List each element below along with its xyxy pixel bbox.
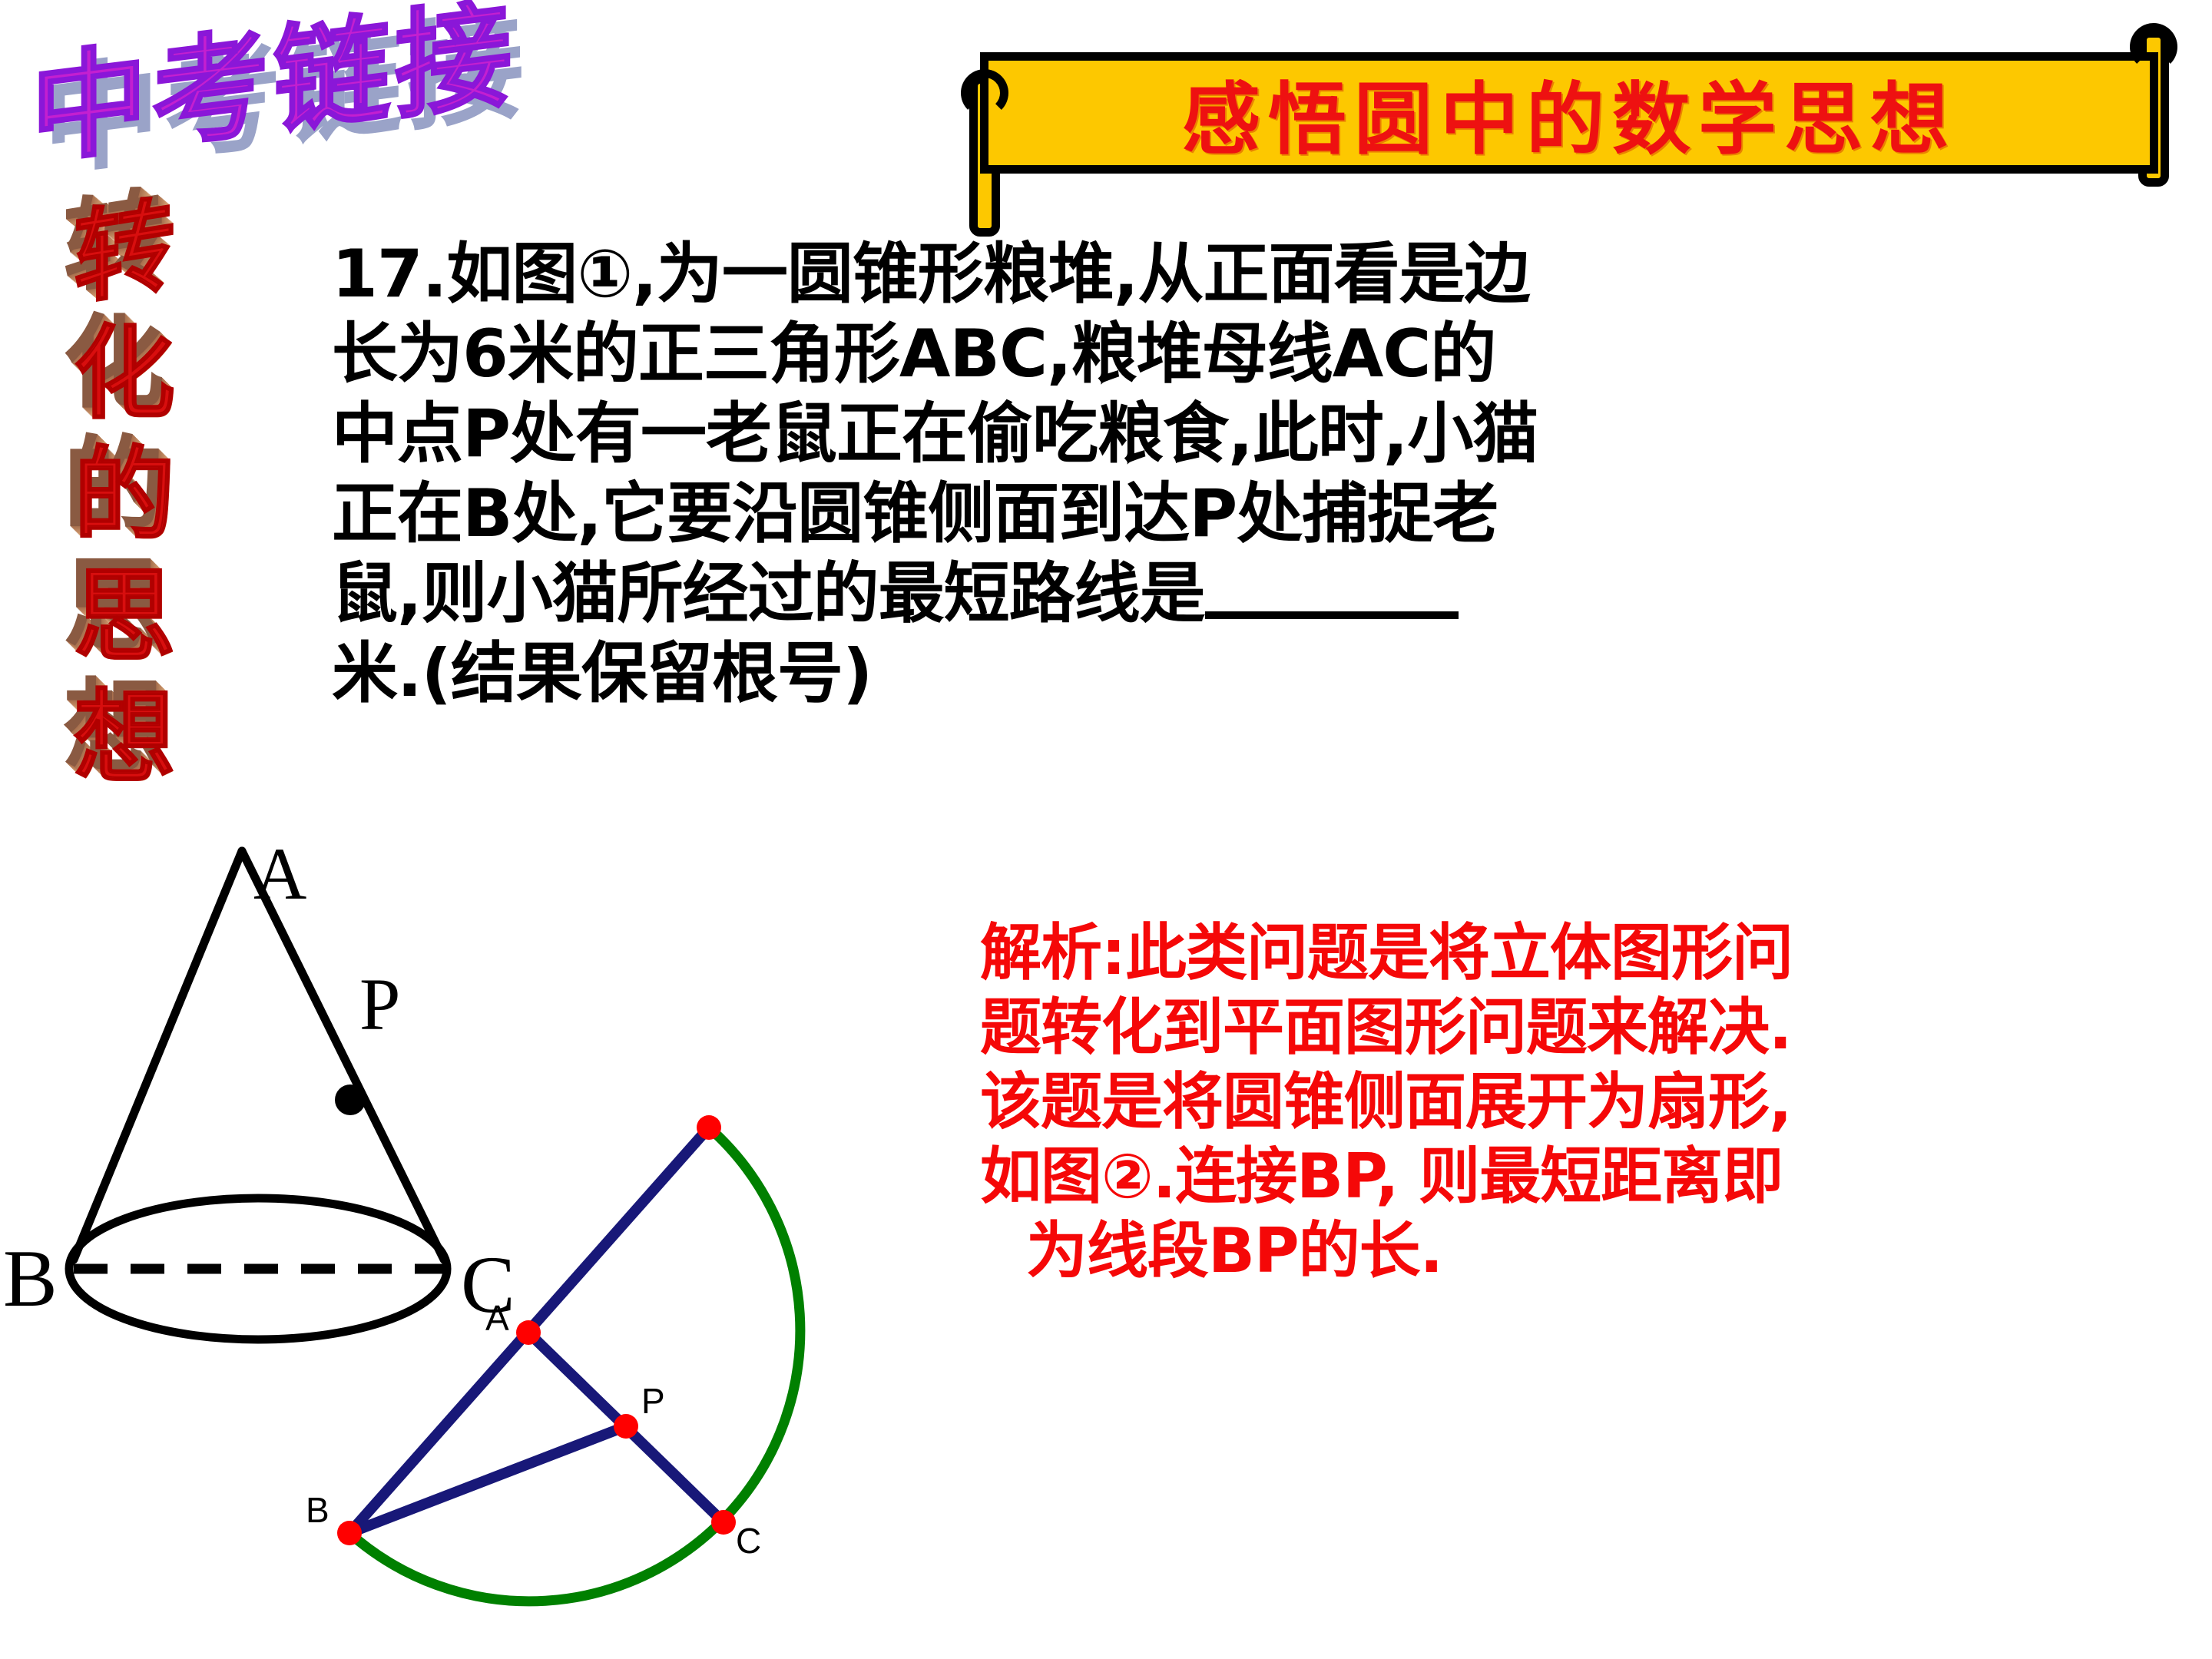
- explanation-line-3: 该题是将圆锥侧面展开为扇形,: [980, 1065, 2178, 1139]
- explanation-line-1: 解析:此类问题是将立体图形问: [980, 916, 2178, 990]
- explanation-block: 解析:此类问题是将立体图形问 题转化到平面图形问题来解决. 该题是将圆锥侧面展开…: [980, 916, 2178, 1288]
- sector-label-c: C: [736, 1521, 761, 1561]
- sector-label-a: A: [485, 1298, 509, 1338]
- explanation-line-2: 题转化到平面图形问题来解决.: [980, 990, 2178, 1065]
- scroll-banner-title: 感悟圆中的数学思想: [1182, 57, 1956, 170]
- scroll-curl-left-icon: [961, 69, 1008, 117]
- cone-label-b: B: [3, 1233, 58, 1323]
- problem-line-2: 长为6米的正三角形ABC,粮堆母线AC的: [332, 314, 1960, 394]
- sector-point-top-dot: [697, 1115, 721, 1140]
- scroll-banner-body: 感悟圆中的数学思想: [980, 52, 2158, 174]
- sector-point-b-dot: [337, 1521, 362, 1545]
- sector-label-b: B: [306, 1490, 329, 1530]
- explanation-line-4: 如图②.连接BP, 则最短距离即: [980, 1139, 2178, 1214]
- problem-line-6: 米.(结果保留根号): [332, 634, 1960, 714]
- motto-char-2: 化 化: [59, 313, 190, 435]
- problem-line-4: 正在B处,它要沿圆锥侧面到达P处捕捉老: [332, 474, 1960, 554]
- motto-char-3: 的 的: [59, 435, 190, 556]
- sector-point-p-dot: [614, 1414, 638, 1439]
- motto-char-4: 思 思: [59, 556, 190, 677]
- vertical-motto: 转 转 化 化 的 的 思 思 想 想: [40, 192, 209, 799]
- figure-sector: A P B C: [292, 1075, 845, 1644]
- problem-line-5: 鼠,则小猫所经过的最短路线是: [332, 554, 1960, 634]
- scroll-curl-right-icon: [2130, 23, 2177, 71]
- motto-char-5: 想 想: [59, 677, 190, 799]
- cone-label-p: P: [359, 963, 400, 1045]
- problem-line-5-text: 鼠,则小猫所经过的最短路线是: [332, 555, 1205, 632]
- problem-line-3: 中点P处有一老鼠正在偷吃粮食,此时,小猫: [332, 394, 1960, 474]
- problem-line-1: 17.如图①,为一圆锥形粮堆,从正面看是边: [332, 234, 1960, 314]
- explanation-line-5: 为线段BP的长.: [980, 1214, 2178, 1288]
- sector-point-a-dot: [516, 1320, 541, 1345]
- problem-statement: 17.如图①,为一圆锥形粮堆,从正面看是边 长为6米的正三角形ABC,粮堆母线A…: [332, 234, 1960, 714]
- cone-label-a: A: [253, 833, 306, 915]
- motto-char-1: 转 转: [59, 192, 190, 313]
- sector-label-p: P: [641, 1381, 665, 1421]
- sector-point-c-dot: [711, 1510, 736, 1535]
- answer-blank[interactable]: [1205, 611, 1459, 619]
- scroll-banner: 感悟圆中的数学思想: [959, 52, 2180, 174]
